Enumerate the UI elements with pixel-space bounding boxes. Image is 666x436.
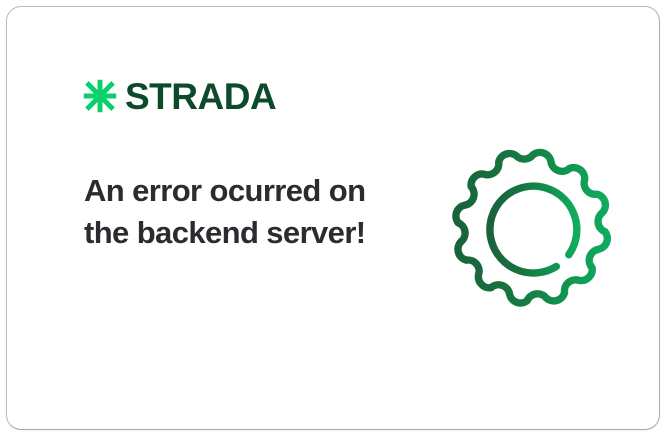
strada-asterisk-icon	[81, 77, 119, 115]
gear-cog-icon	[450, 145, 616, 309]
error-card: STRADA An error ocurred on the backend s…	[6, 6, 660, 430]
error-message: An error ocurred on the backend server!	[84, 170, 384, 254]
brand-wordmark: STRADA	[125, 78, 276, 115]
brand-logo: STRADA	[81, 73, 276, 119]
